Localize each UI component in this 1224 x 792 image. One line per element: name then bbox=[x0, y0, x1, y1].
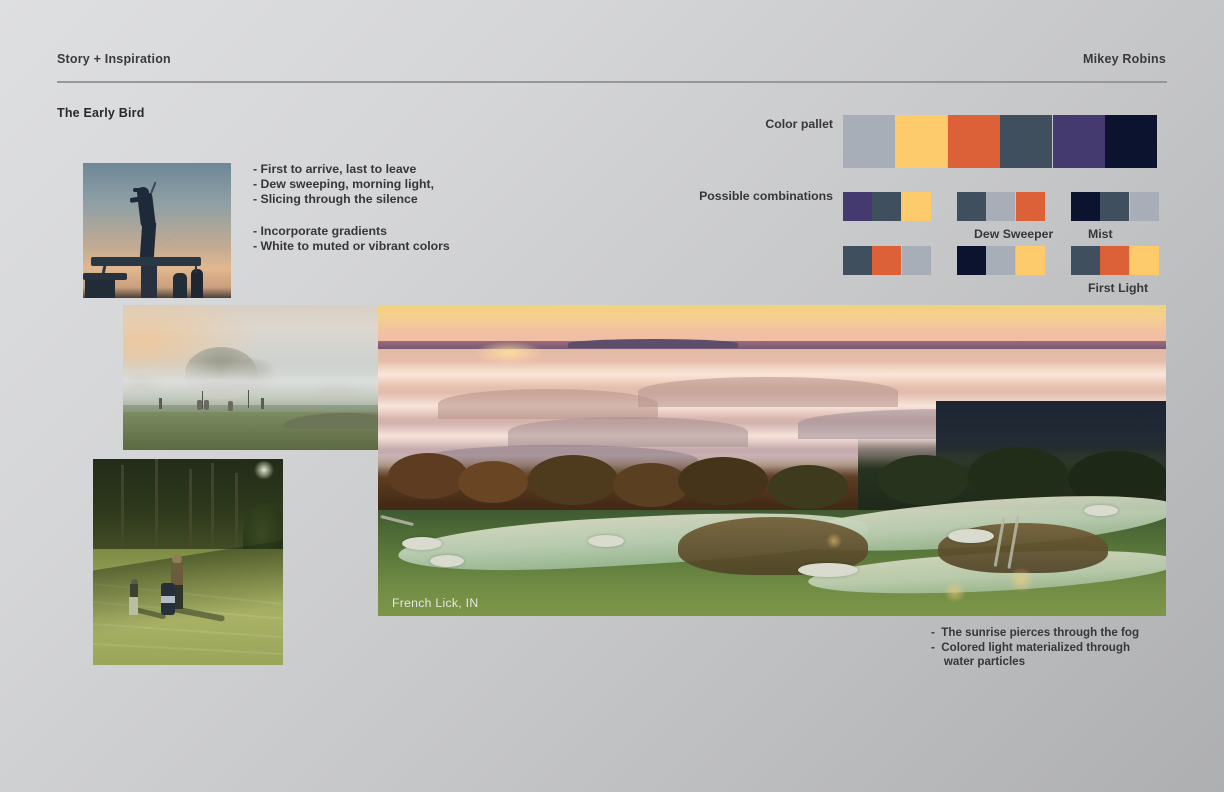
ridge-bump bbox=[568, 339, 738, 348]
tree-canopy bbox=[613, 463, 689, 507]
page-title: The Early Bird bbox=[57, 106, 145, 120]
lens-flare bbox=[826, 533, 842, 549]
golf-bag-left bbox=[173, 273, 187, 298]
combination-name: Dew Sweeper bbox=[974, 227, 1053, 241]
combination-name: First Light bbox=[1088, 281, 1148, 295]
notes-concept: - First to arrive, last to leave - Dew s… bbox=[253, 162, 434, 206]
combination-swatch bbox=[986, 246, 1015, 275]
header-left-label: Story + Inspiration bbox=[57, 52, 171, 66]
notes-panorama: - The sunrise pierces through the fog - … bbox=[931, 626, 1139, 670]
golfer-torso bbox=[137, 193, 156, 227]
possible-combinations-label: Possible combinations bbox=[560, 189, 833, 203]
caddie-bag-towel bbox=[161, 596, 175, 603]
header-divider bbox=[57, 81, 1167, 83]
combination-swatch bbox=[843, 246, 872, 275]
flagstick bbox=[248, 390, 249, 408]
palette-swatch-sunrise-orange bbox=[948, 115, 1000, 168]
palette-swatch-mist-gray bbox=[843, 115, 895, 168]
photo-golfers-walking bbox=[93, 459, 283, 665]
mist-hill bbox=[638, 377, 898, 407]
tree-canopy bbox=[678, 457, 768, 505]
sand-bunker bbox=[588, 535, 624, 547]
panorama-caption: French Lick, IN bbox=[392, 596, 478, 610]
cart-body bbox=[141, 266, 157, 298]
combination-swatch bbox=[986, 192, 1015, 221]
sand-bunker bbox=[1084, 505, 1118, 516]
combination-swatch bbox=[1016, 192, 1045, 221]
mist-hill bbox=[508, 417, 748, 447]
combination-swatch bbox=[957, 246, 986, 275]
combination-swatch bbox=[1100, 192, 1129, 221]
mist-hill bbox=[438, 389, 658, 419]
combination-swatch bbox=[1016, 246, 1045, 275]
palette-swatch-slate-blue bbox=[1000, 115, 1052, 168]
palette-swatch-dusk-purple bbox=[1053, 115, 1105, 168]
sun-flare bbox=[253, 461, 275, 479]
combination-swatch bbox=[1130, 246, 1159, 275]
sand-bunker bbox=[430, 555, 464, 567]
combination-swatch bbox=[957, 192, 986, 221]
combination-name: Mist bbox=[1088, 227, 1113, 241]
clubs-in-bag bbox=[195, 261, 197, 273]
second-cart-body bbox=[85, 280, 115, 298]
tree-canopy bbox=[878, 455, 968, 505]
golfer-figure bbox=[261, 398, 264, 409]
sand-bunker bbox=[948, 529, 994, 543]
golf-bag-right bbox=[191, 269, 203, 298]
tree-canopy bbox=[768, 465, 848, 509]
flagstick bbox=[202, 391, 203, 409]
tree-canopy bbox=[528, 455, 618, 505]
combination-swatch bbox=[1100, 246, 1129, 275]
sand-bunker bbox=[402, 537, 442, 550]
combination-swatch bbox=[843, 192, 872, 221]
golf-bag bbox=[204, 400, 209, 410]
notes-style: - Incorporate gradients - White to muted… bbox=[253, 224, 450, 254]
moodboard-slide: Story + Inspiration Mikey Robins The Ear… bbox=[0, 0, 1224, 792]
combination-swatch bbox=[1071, 246, 1100, 275]
golfer-1-legs bbox=[129, 597, 138, 615]
club-shaft-lower bbox=[158, 234, 177, 247]
combination-swatch bbox=[872, 246, 901, 275]
photo-sunrise-panorama bbox=[378, 305, 1166, 616]
photo-golfer-silhouette bbox=[83, 163, 231, 298]
combination-swatch bbox=[902, 246, 931, 275]
combination-swatch bbox=[1071, 192, 1100, 221]
lens-flare bbox=[944, 581, 966, 603]
palette-swatch-sun-yellow bbox=[895, 115, 947, 168]
golfer-legs bbox=[140, 223, 157, 259]
tree-canopy bbox=[388, 453, 468, 499]
combination-swatch bbox=[1130, 192, 1159, 221]
golfer-figure bbox=[159, 398, 162, 409]
cart-roof bbox=[91, 257, 201, 266]
header-right-label: Mikey Robins bbox=[1083, 52, 1166, 66]
tree-canopy bbox=[458, 461, 528, 503]
combination-swatch bbox=[872, 192, 901, 221]
tree-canopy bbox=[968, 447, 1068, 503]
golf-bag bbox=[228, 401, 233, 411]
sand-bunker bbox=[798, 563, 858, 577]
lens-flare bbox=[1008, 567, 1034, 593]
second-cart-roof bbox=[83, 273, 127, 280]
sunrise-sky bbox=[378, 305, 1166, 345]
color-pallet-label: Color pallet bbox=[600, 117, 833, 131]
combination-swatch bbox=[902, 192, 931, 221]
palette-swatch-midnight-navy bbox=[1105, 115, 1157, 168]
